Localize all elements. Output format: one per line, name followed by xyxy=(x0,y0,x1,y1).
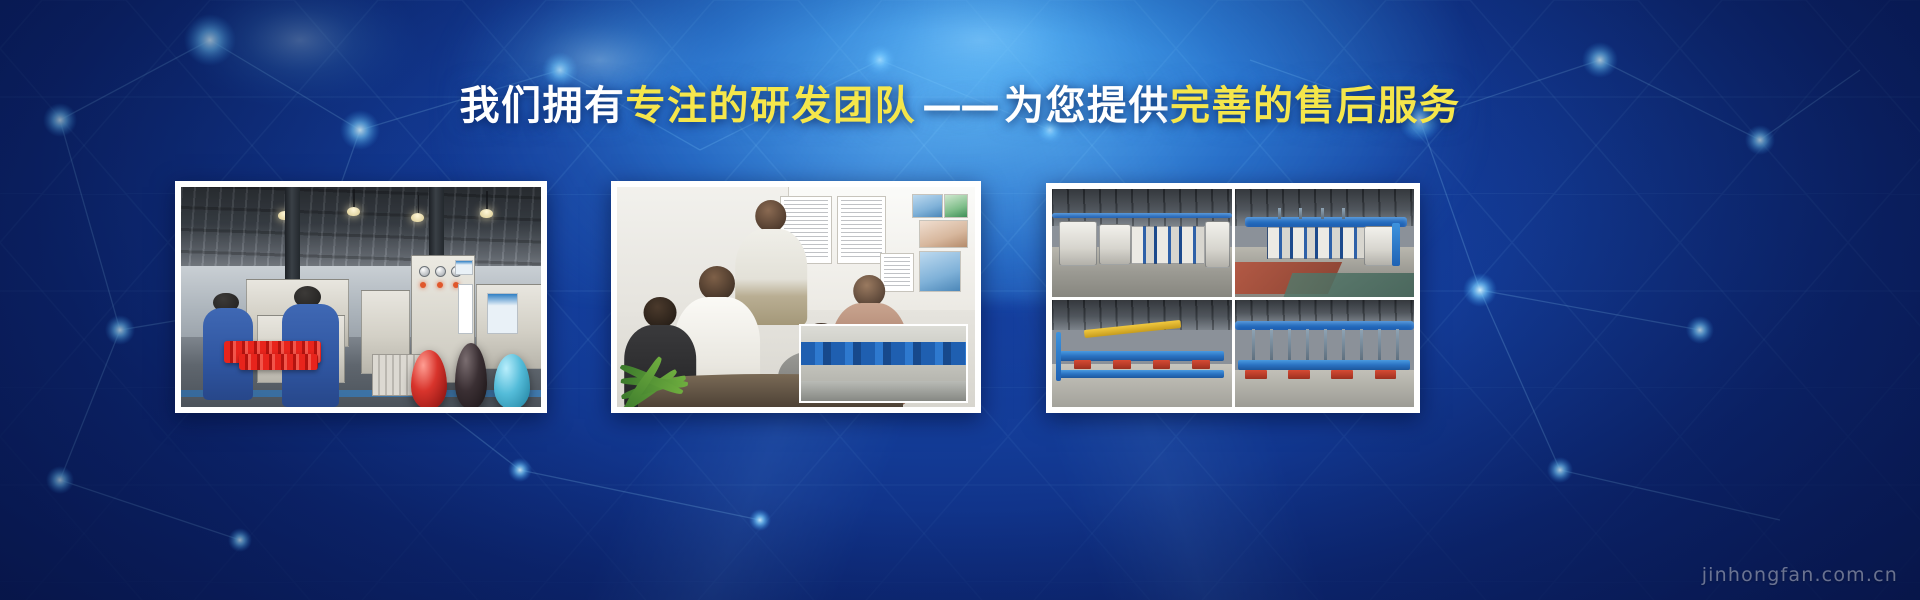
collage-cell-tunnel-line xyxy=(1235,189,1415,297)
vertical-pipe xyxy=(1392,223,1399,266)
person-head xyxy=(699,266,735,301)
conveyor-rail xyxy=(1059,370,1224,378)
process-tank xyxy=(1059,221,1097,266)
process-tank xyxy=(1364,226,1395,267)
red-fixture xyxy=(1074,360,1092,370)
workshop-roof xyxy=(1235,300,1415,324)
process-tank xyxy=(1205,221,1230,268)
cabinet-document xyxy=(458,284,473,334)
banner-headline: 我们拥有专注的研发团队——为您提供完善的售后服务 xyxy=(0,82,1920,130)
collage-grid xyxy=(1052,189,1414,407)
wall-poster xyxy=(837,196,886,264)
cabinet-label xyxy=(455,260,473,275)
red-fixture xyxy=(1245,370,1267,379)
machine-label xyxy=(487,293,518,335)
red-fixture xyxy=(1331,370,1353,379)
red-fixture xyxy=(1375,370,1397,379)
photo-production-line xyxy=(181,187,541,407)
process-tank xyxy=(1099,224,1132,265)
red-fixture xyxy=(1192,360,1210,370)
hanger-rod xyxy=(1342,329,1345,361)
photo-team-meeting xyxy=(617,187,975,407)
collage-cell-workshop-tanks xyxy=(1052,189,1232,297)
green-floor-path xyxy=(1284,273,1414,297)
red-fixture xyxy=(1113,360,1131,370)
workshop-roof xyxy=(1052,189,1232,226)
control-knob xyxy=(419,266,430,277)
hanger-rod xyxy=(1270,329,1273,361)
photo-equipment-collage xyxy=(1052,189,1414,407)
foreground-plant xyxy=(617,323,717,407)
headline-part-1: 我们拥有 xyxy=(460,83,626,129)
promo-banner: 我们拥有专注的研发团队——为您提供完善的售后服务 xyxy=(0,0,1920,600)
headline-part-2-accent: 专注的研发团队 xyxy=(626,83,917,129)
collage-cell-hanging-rack xyxy=(1235,300,1415,408)
photo-panel-production-line[interactable] xyxy=(175,181,547,413)
machine-base xyxy=(801,381,966,400)
photo-panel-team-meeting[interactable] xyxy=(611,181,981,413)
red-fixture xyxy=(1288,370,1310,379)
cabinet-row xyxy=(1131,226,1205,265)
hanger-rod xyxy=(1278,208,1281,219)
hanger-rod xyxy=(1252,329,1255,361)
control-knob xyxy=(435,266,446,277)
collage-cell-conveyor xyxy=(1052,300,1232,408)
hanger-rod xyxy=(1299,208,1302,219)
person-head xyxy=(755,200,787,232)
red-product-row xyxy=(239,354,318,369)
hanger-rod xyxy=(1324,329,1327,361)
hanger-rod xyxy=(1342,208,1345,219)
wall-photo-warm xyxy=(919,220,968,248)
red-fixture xyxy=(1153,360,1171,370)
machine-photo-overlay xyxy=(799,324,968,403)
cabinet-row xyxy=(1267,227,1370,259)
vertical-pipe xyxy=(1056,332,1061,381)
conveyor-rail xyxy=(1238,360,1410,371)
hanger-rod xyxy=(1396,329,1399,361)
headline-part-4-accent: 完善的售后服务 xyxy=(1170,83,1461,129)
headline-dash: —— xyxy=(916,82,1004,130)
overhead-duct xyxy=(1052,213,1232,218)
hanger-rod xyxy=(1288,329,1291,361)
machine-cabinet-row xyxy=(801,342,966,364)
wall-photo-blue xyxy=(912,194,943,218)
poster-text-lines xyxy=(841,200,882,260)
hanger-rod xyxy=(1378,329,1381,361)
wall-diagram xyxy=(919,251,960,293)
headline-part-3: 为您提供 xyxy=(1004,83,1170,129)
indicator-light xyxy=(437,282,443,288)
ceiling-lamp xyxy=(480,209,493,218)
site-watermark: jinhongfan.com.cn xyxy=(1702,564,1898,586)
hanger-rod xyxy=(1360,329,1363,361)
wall-photo-green xyxy=(944,194,967,218)
ceiling-lamp xyxy=(347,207,360,216)
hanger-rod xyxy=(1321,208,1324,219)
hanger-rod xyxy=(1306,329,1309,361)
photo-panel-equipment-collage[interactable] xyxy=(1046,183,1420,413)
